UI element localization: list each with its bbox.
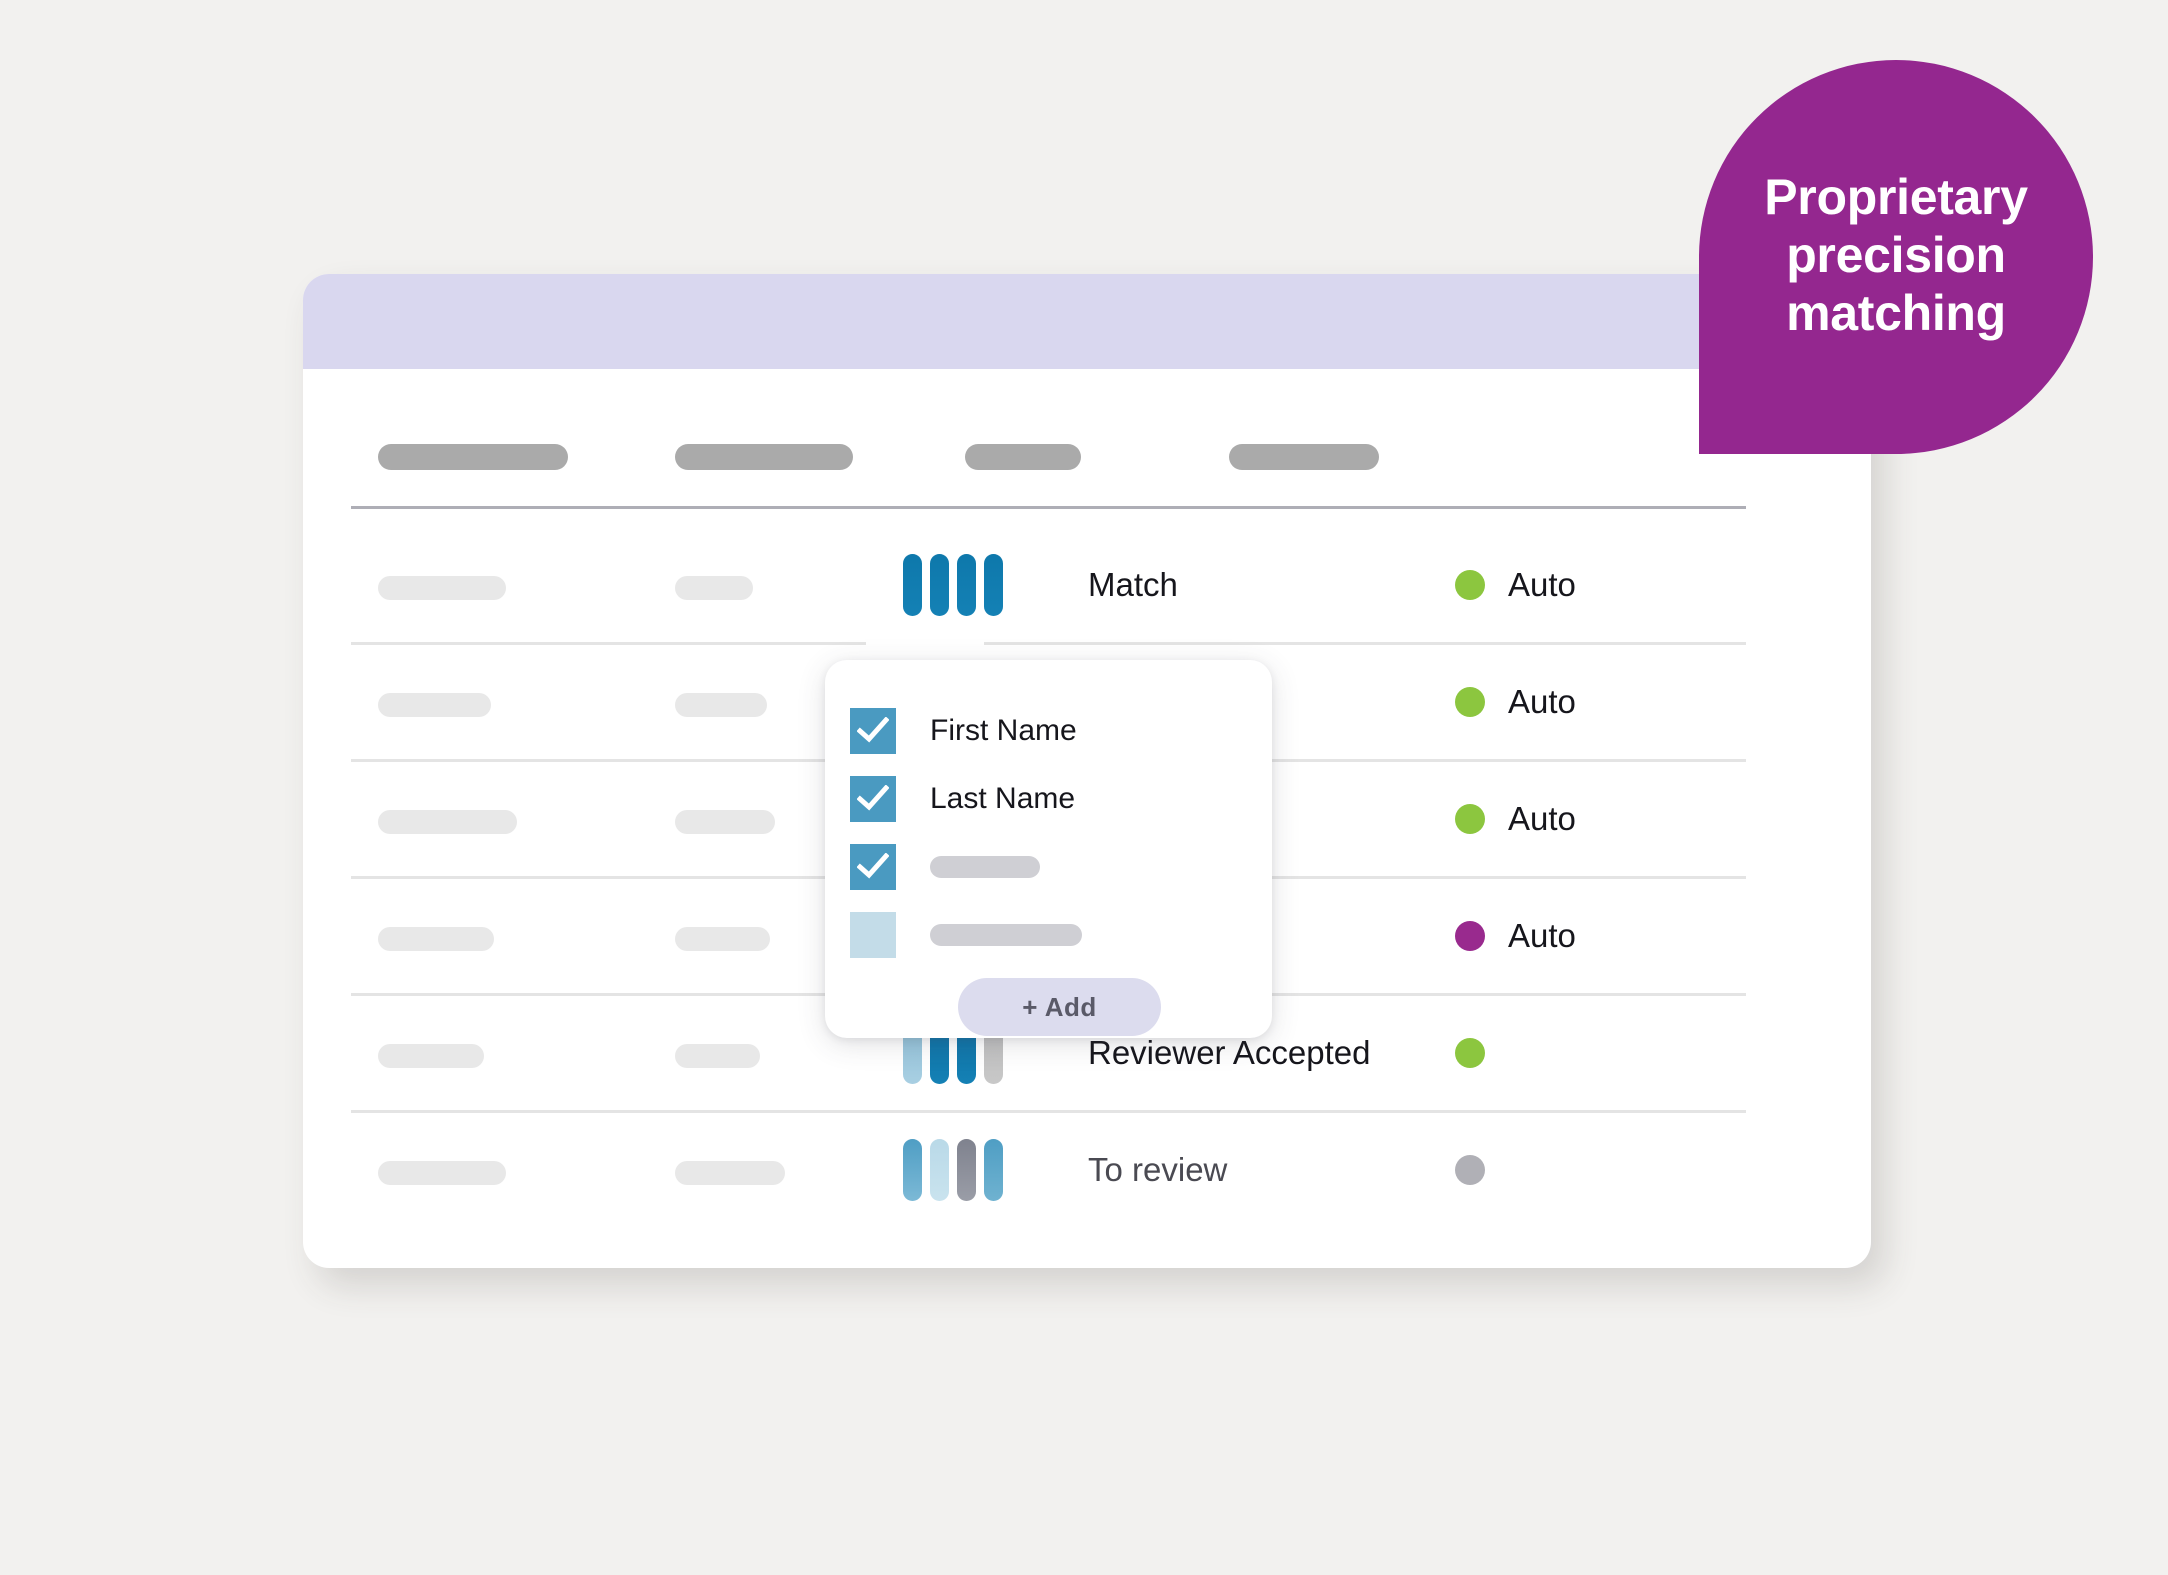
cell-placeholder: [675, 1161, 785, 1185]
cell-placeholder: [378, 810, 517, 834]
dropdown-item-label: First Name: [930, 714, 1077, 748]
proprietary-precision-matching-badge: Proprietary precision matching: [1699, 60, 2093, 454]
score-bar: [957, 554, 976, 616]
status-badge: [1455, 921, 1485, 951]
checkbox-checked-icon[interactable]: [850, 844, 896, 890]
score-bar: [984, 554, 1003, 616]
dropdown-item-placeholder-4[interactable]: [850, 912, 1082, 958]
cell-placeholder: [378, 927, 494, 951]
add-field-button[interactable]: + Add: [958, 978, 1161, 1036]
score-bar: [957, 1139, 976, 1201]
status-badge: [1455, 1155, 1485, 1185]
status-mode-label: Auto: [1508, 800, 1576, 838]
score-bar: [930, 554, 949, 616]
column-header-placeholder-2: [675, 444, 853, 470]
column-header-placeholder-1: [378, 444, 568, 470]
badge-text: Proprietary precision matching: [1764, 168, 2027, 346]
cell-placeholder: [675, 576, 753, 600]
status-mode-label: Auto: [1508, 917, 1576, 955]
cell-placeholder: [378, 1044, 484, 1068]
table-header-divider: [351, 506, 1746, 509]
card-header-bar: [303, 274, 1871, 369]
cell-placeholder: [675, 927, 770, 951]
match-score-bars: [903, 1139, 1003, 1201]
score-bar: [903, 554, 922, 616]
cell-placeholder: [378, 1161, 506, 1185]
score-bar: [930, 1139, 949, 1201]
checkbox-checked-icon[interactable]: [850, 708, 896, 754]
cell-placeholder: [378, 693, 491, 717]
match-status-label: Match: [1088, 566, 1178, 604]
check-icon: [857, 785, 889, 813]
check-icon: [857, 853, 889, 881]
cell-placeholder: [675, 810, 775, 834]
match-status-label: To review: [1088, 1151, 1227, 1189]
table-row[interactable]: To review: [303, 1111, 1871, 1228]
dropdown-item-placeholder-3[interactable]: [850, 844, 1040, 890]
match-status-label: Reviewer Accepted: [1088, 1034, 1370, 1072]
cell-placeholder: [675, 693, 767, 717]
score-bar: [903, 1139, 922, 1201]
checkbox-checked-icon[interactable]: [850, 776, 896, 822]
table-column-headers: [303, 444, 1871, 484]
status-badge: [1455, 570, 1485, 600]
status-badge: [1455, 687, 1485, 717]
badge-line-3: matching: [1764, 284, 2027, 342]
checkbox-unchecked-icon[interactable]: [850, 912, 896, 958]
badge-line-2: precision: [1764, 226, 2027, 284]
status-badge: [1455, 804, 1485, 834]
check-icon: [857, 717, 889, 745]
score-bar: [984, 1139, 1003, 1201]
dropdown-item-label-placeholder: [930, 924, 1082, 946]
cell-placeholder: [675, 1044, 760, 1068]
status-badge: [1455, 1038, 1485, 1068]
column-header-placeholder-3: [965, 444, 1081, 470]
table-row[interactable]: Match Auto: [303, 526, 1871, 643]
status-mode-label: Auto: [1508, 566, 1576, 604]
column-header-placeholder-4: [1229, 444, 1379, 470]
match-score-bars: [903, 554, 1003, 616]
badge-line-1: Proprietary: [1764, 168, 2027, 226]
field-selection-dropdown[interactable]: First Name Last Name + Add: [825, 660, 1272, 1038]
dropdown-item-label-placeholder: [930, 856, 1040, 878]
dropdown-item-last-name[interactable]: Last Name: [850, 776, 1075, 822]
dropdown-item-first-name[interactable]: First Name: [850, 708, 1077, 754]
dropdown-item-label: Last Name: [930, 782, 1075, 816]
cell-placeholder: [378, 576, 506, 600]
status-mode-label: Auto: [1508, 683, 1576, 721]
